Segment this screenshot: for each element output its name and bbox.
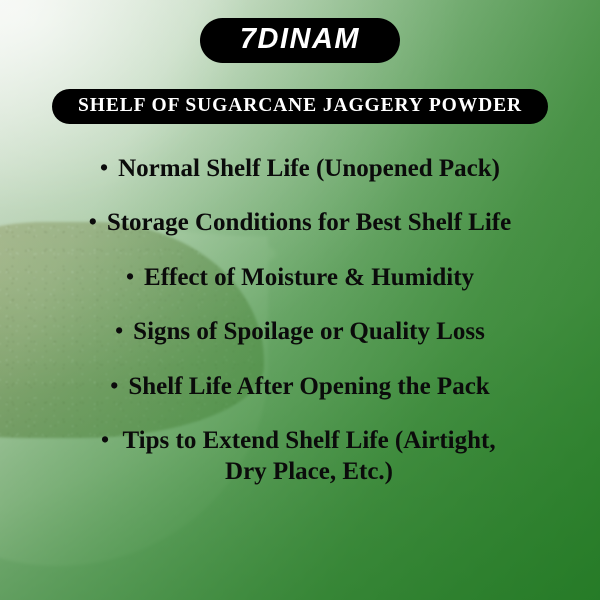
brand-logo-text: 7DINAM [240,25,360,54]
bullet-icon: • [100,154,108,182]
list-item-label: Signs of Spoilage or Quality Loss [133,317,485,348]
title-banner: SHELF OF SUGARCANE JAGGERY POWDER [52,89,548,124]
poster-canvas: 7DINAM SHELF OF SUGARCANE JAGGERY POWDER… [0,0,600,600]
list-item: • Effect of Moisture & Humidity [40,263,560,294]
list-item-label: Shelf Life After Opening the Pack [128,372,489,403]
bullet-icon: • [115,317,123,345]
bullet-icon: • [126,263,134,291]
list-item: • Tips to Extend Shelf Life (Airtight, D… [40,426,560,487]
bullet-icon: • [101,426,109,454]
topic-list: • Normal Shelf Life (Unopened Pack) • St… [40,154,560,512]
list-item: • Signs of Spoilage or Quality Loss [40,317,560,348]
list-item-label: Tips to Extend Shelf Life (Airtight, Dry… [119,426,499,487]
list-item: • Shelf Life After Opening the Pack [40,372,560,403]
list-item: • Storage Conditions for Best Shelf Life [40,208,560,239]
bullet-icon: • [89,208,97,236]
list-item-label: Storage Conditions for Best Shelf Life [107,208,511,239]
list-item: • Normal Shelf Life (Unopened Pack) [40,154,560,185]
bullet-icon: • [110,372,118,400]
brand-logo-pill: 7DINAM [200,18,400,63]
page-title: SHELF OF SUGARCANE JAGGERY POWDER [78,96,522,116]
list-item-label: Effect of Moisture & Humidity [144,263,474,294]
list-item-label: Normal Shelf Life (Unopened Pack) [118,154,500,185]
poster-content: 7DINAM SHELF OF SUGARCANE JAGGERY POWDER… [0,0,600,600]
